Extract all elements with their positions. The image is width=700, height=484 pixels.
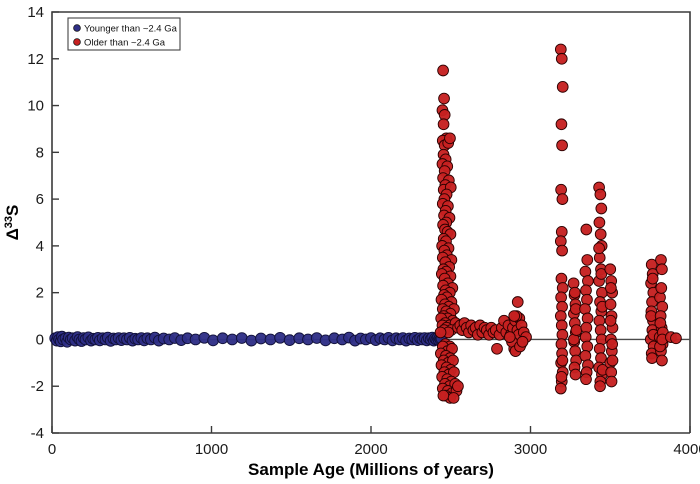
data-point <box>445 133 456 144</box>
data-point <box>605 264 616 275</box>
legend-label-younger: Younger than ~2.4 Ga <box>84 24 178 35</box>
data-point <box>284 335 295 346</box>
data-point <box>438 390 449 401</box>
x-tick-label: 3000 <box>514 441 547 458</box>
data-point <box>512 297 523 308</box>
data-point <box>517 336 528 347</box>
data-point <box>581 374 592 385</box>
data-point <box>583 276 594 287</box>
data-point <box>246 335 257 346</box>
y-tick-label: 2 <box>36 285 44 302</box>
y-tick-label: 14 <box>27 4 44 21</box>
data-point <box>208 335 219 346</box>
data-point <box>596 203 607 214</box>
data-point <box>570 369 581 380</box>
legend-label-older: Older than ~2.4 Ga <box>84 38 166 49</box>
data-point <box>509 311 520 322</box>
data-point <box>227 334 238 345</box>
data-point <box>605 299 616 310</box>
data-point <box>556 119 567 130</box>
data-point <box>656 283 667 294</box>
data-point <box>595 189 606 200</box>
data-point <box>435 327 446 338</box>
data-point <box>438 65 449 76</box>
x-tick-label: 4000 <box>673 441 700 458</box>
legend: Younger than ~2.4 GaOlder than ~2.4 Ga <box>68 18 180 50</box>
data-point <box>595 229 606 240</box>
data-point <box>556 53 567 64</box>
series-older-points <box>435 44 681 403</box>
data-point <box>556 371 567 382</box>
svg-text:Δ33S: Δ33S <box>3 205 22 241</box>
x-tick-label: 2000 <box>354 441 387 458</box>
data-point <box>581 224 592 235</box>
data-point <box>557 245 568 256</box>
y-axis-title: Δ33S <box>3 205 22 241</box>
data-point <box>275 332 286 343</box>
data-point <box>217 333 228 344</box>
y-tick-label: 4 <box>36 238 44 255</box>
data-point <box>492 343 503 354</box>
data-point <box>607 339 618 350</box>
y-tick-label: 12 <box>27 51 44 68</box>
data-point <box>557 140 568 151</box>
data-point <box>605 283 616 294</box>
y-tick-label: 6 <box>36 191 44 208</box>
series-younger-points <box>50 331 447 347</box>
data-point <box>671 333 682 344</box>
x-tick-label: 0 <box>48 441 56 458</box>
data-point <box>657 355 668 366</box>
data-point <box>647 273 658 284</box>
data-point <box>571 325 582 336</box>
data-point <box>448 393 459 404</box>
data-point <box>582 341 593 352</box>
data-point <box>557 355 568 366</box>
data-point <box>504 332 515 343</box>
data-point <box>439 93 450 104</box>
plot-canvas: -4-20246810121401000200030004000Sample A… <box>0 0 700 484</box>
y-tick-label: -2 <box>31 378 44 395</box>
legend-marker-younger <box>74 25 81 32</box>
scatter-plot-figure: -4-20246810121401000200030004000Sample A… <box>0 0 700 484</box>
y-tick-label: 10 <box>27 98 44 115</box>
y-tick-label: 0 <box>36 331 44 348</box>
data-point <box>594 243 605 254</box>
data-point <box>453 381 464 392</box>
data-point <box>557 194 568 205</box>
data-point <box>605 315 616 326</box>
y-tick-label: 8 <box>36 144 44 161</box>
data-point <box>657 264 668 275</box>
data-point <box>555 383 566 394</box>
x-tick-label: 1000 <box>195 441 228 458</box>
data-point <box>256 333 267 344</box>
data-point <box>557 81 568 92</box>
legend-marker-older <box>74 39 81 46</box>
data-point <box>582 294 593 305</box>
data-point <box>236 333 247 344</box>
data-point <box>595 381 606 392</box>
y-tick-label: -4 <box>31 425 44 442</box>
data-point <box>582 255 593 266</box>
x-axis-title: Sample Age (Millions of years) <box>248 460 494 479</box>
data-point <box>438 119 449 130</box>
data-point <box>647 353 658 364</box>
data-point <box>606 376 617 387</box>
data-point <box>607 355 618 366</box>
data-point <box>569 287 580 298</box>
data-point <box>265 334 276 345</box>
data-point <box>594 217 605 228</box>
